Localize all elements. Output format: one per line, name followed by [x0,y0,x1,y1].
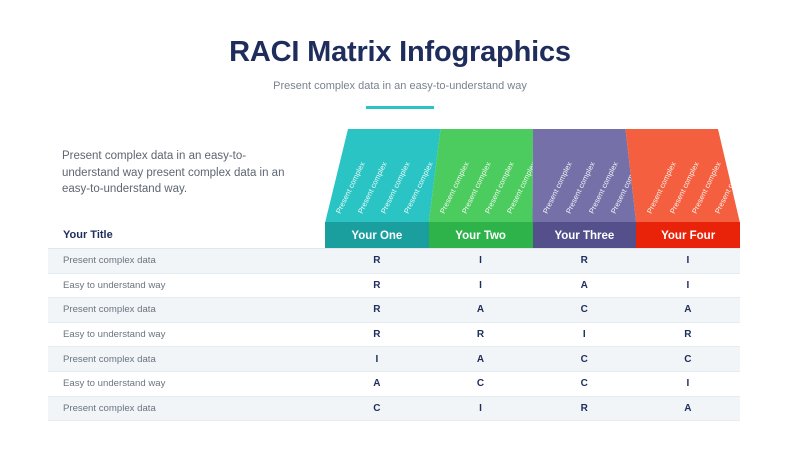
page-subtitle: Present complex data in an easy-to-under… [0,80,800,92]
raci-cell-r1-c2: I [429,255,533,266]
raci-cell-r2-c2: I [429,280,533,291]
raci-cell-r3-c3: C [532,304,636,315]
accent-divider [366,106,434,109]
raci-cell-r2-c3: A [532,280,636,291]
raci-cell-r1-c4: I [636,255,740,266]
row-label: Present complex data [48,354,325,365]
row-header-title: Your Title [48,229,325,241]
page-title: RACI Matrix Infographics [0,36,800,69]
table-row: Easy to understand wayRRIR [48,323,740,348]
raci-cell-r2-c4: I [636,280,740,291]
raci-matrix-table: Your Title Present complex dataRIRIEasy … [48,222,740,421]
raci-cell-r7-c4: A [636,403,740,414]
table-row: Present complex dataCIRA [48,397,740,422]
table-row: Present complex dataIACC [48,347,740,372]
raci-cell-r7-c1: C [325,403,429,414]
table-row: Present complex dataRACA [48,298,740,323]
raci-cell-r5-c4: C [636,354,740,365]
raci-cell-r4-c1: R [325,329,429,340]
raci-cell-r5-c3: C [532,354,636,365]
row-label: Present complex data [48,304,325,315]
raci-cell-r1-c3: R [532,255,636,266]
raci-cell-r3-c4: A [636,304,740,315]
raci-cell-r7-c2: I [429,403,533,414]
table-body: Present complex dataRIRIEasy to understa… [48,249,740,421]
raci-cell-r4-c2: R [429,329,533,340]
raci-cell-r5-c2: A [429,354,533,365]
table-row: Present complex dataRIRI [48,249,740,274]
raci-cell-r2-c1: R [325,280,429,291]
raci-cell-r5-c1: I [325,354,429,365]
raci-cell-r6-c1: A [325,378,429,389]
raci-cell-r1-c1: R [325,255,429,266]
perspective-header-deck: Present complexPresent complexPresent co… [318,129,748,223]
row-label: Easy to understand way [48,378,325,389]
row-label: Easy to understand way [48,280,325,291]
intro-paragraph: Present complex data in an easy-to-under… [62,148,294,198]
table-row: Easy to understand wayRIAI [48,274,740,299]
raci-cell-r7-c3: R [532,403,636,414]
row-label: Present complex data [48,403,325,414]
raci-cell-r6-c3: C [532,378,636,389]
raci-cell-r4-c4: R [636,329,740,340]
table-title-row: Your Title [48,222,740,249]
raci-cell-r3-c1: R [325,304,429,315]
raci-cell-r3-c2: A [429,304,533,315]
table-row: Easy to understand wayACCI [48,372,740,397]
raci-cell-r4-c3: I [532,329,636,340]
row-label: Present complex data [48,255,325,266]
row-label: Easy to understand way [48,329,325,340]
raci-cell-r6-c2: C [429,378,533,389]
raci-cell-r6-c4: I [636,378,740,389]
